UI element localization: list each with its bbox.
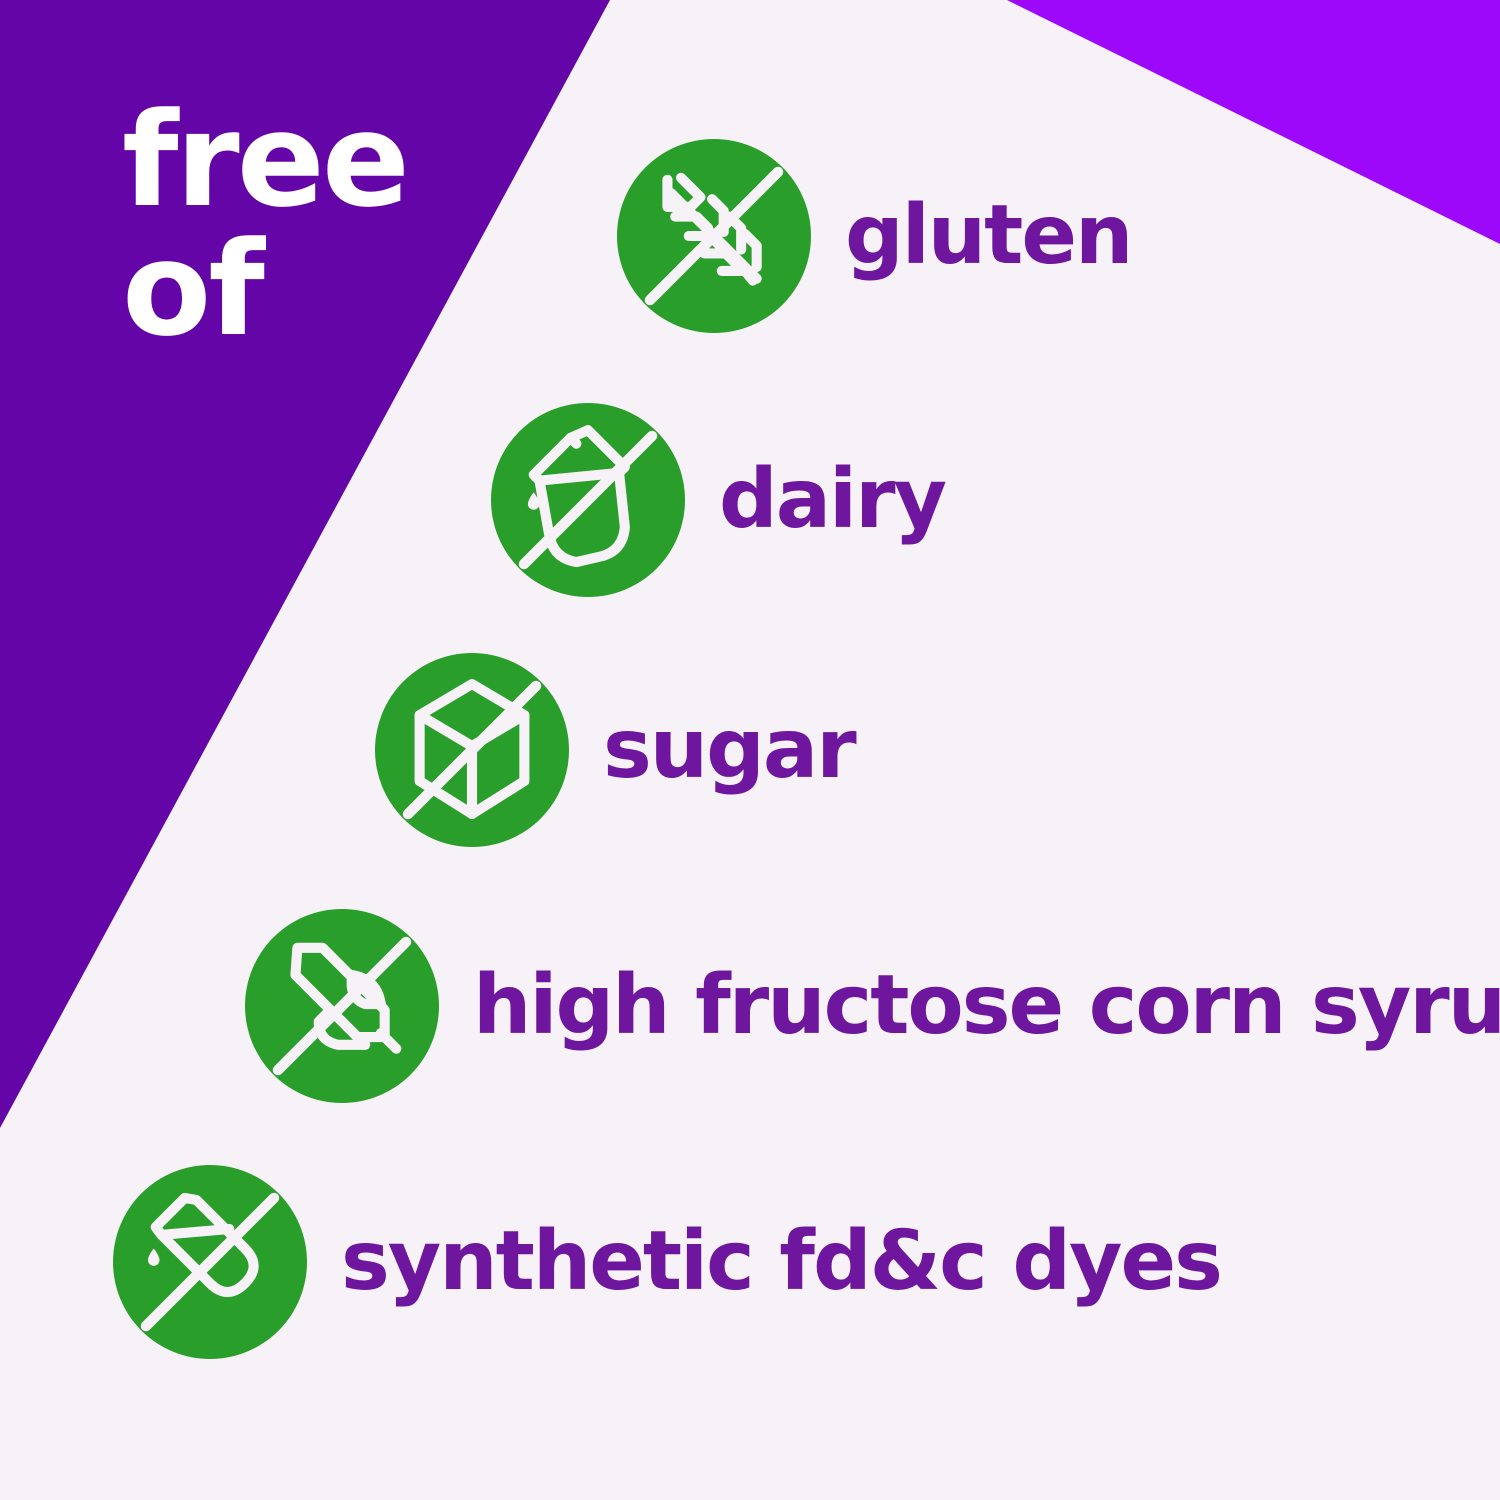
- claim-row-dairy: dairy: [491, 403, 945, 597]
- claim-label-high-fructose-corn-syrup: high fructose corn syrup: [473, 965, 1500, 1047]
- claim-label-synthetic-fdc-dyes: synthetic fd&c dyes: [341, 1221, 1221, 1303]
- page-title-line-2: of: [122, 225, 542, 354]
- claim-label-sugar: sugar: [603, 709, 855, 791]
- claim-label-gluten: gluten: [845, 195, 1131, 277]
- claim-row-high-fructose-corn-syrup: high fructose corn syrup: [245, 909, 1500, 1103]
- page-title-line-1: free: [122, 96, 542, 225]
- free-of-claims-graphic: free of: [0, 0, 1500, 1500]
- claim-row-sugar: sugar: [375, 653, 855, 847]
- page-title: free of: [122, 96, 542, 353]
- no-wheat-icon: [617, 139, 811, 333]
- claim-label-dairy: dairy: [719, 459, 945, 541]
- no-sugar-cube-icon: [375, 653, 569, 847]
- claim-row-synthetic-fdc-dyes: synthetic fd&c dyes: [113, 1165, 1221, 1359]
- claim-row-gluten: gluten: [617, 139, 1131, 333]
- no-corn-icon: [245, 909, 439, 1103]
- no-test-tube-icon: [113, 1165, 307, 1359]
- no-milk-carton-icon: [491, 403, 685, 597]
